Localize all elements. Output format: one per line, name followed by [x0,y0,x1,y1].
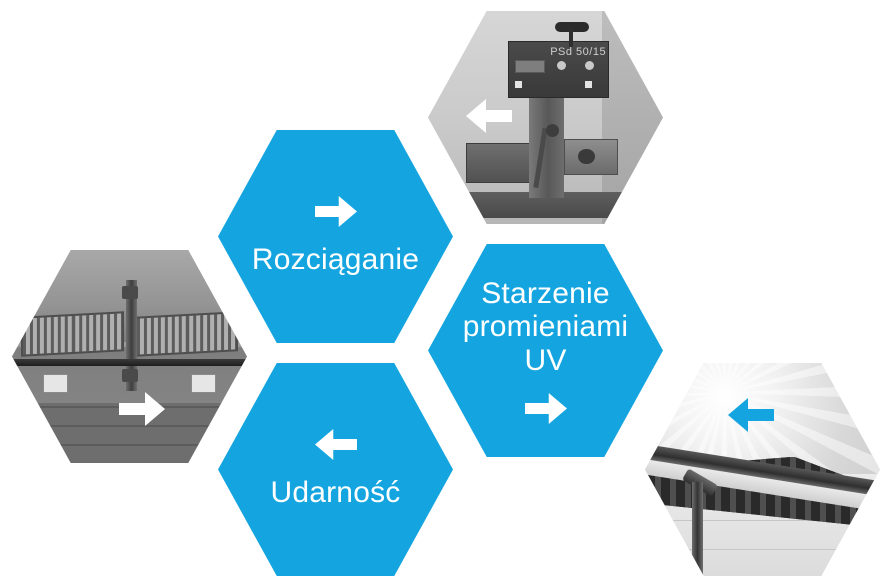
hexagon-label-udarnosc: Udarność [244,476,427,510]
arrow-slot-top [315,196,357,227]
photo-artwork-tensile-bench [12,250,247,463]
hexagon-label-starzenie-uv: Starzenie promieniami UV [454,277,637,378]
hexagon-label-rozciaganie: Rozciąganie [244,243,427,277]
photo-hexagon-tensile-bench[interactable]: Stanowisko do próby rozciągania [12,250,247,463]
photo-artwork-roof-gutter [645,363,880,576]
photo-caption-tensile-bench: Stanowisko do próby rozciągania [12,250,13,251]
hexagon-node-rozciaganie[interactable]: Rozciąganie [218,130,453,343]
photo-hexagon-impact-tester[interactable]: PSd 50/15 Młot udarnościowy PSd 50/15 [428,11,663,224]
photo-caption-impact-tester: Młot udarnościowy PSd 50/15 [428,11,429,12]
arrow-slot-bottom [525,393,567,424]
arrow-left-icon [466,99,512,133]
diagram-canvas: Stanowisko do próby rozciągania PSd 50/1… [0,0,880,585]
arrow-left-icon [315,429,357,460]
machine-label: PSd 50/15 [550,46,606,58]
arrow-left-icon [728,398,774,432]
arrow-right-icon [315,196,357,227]
photo-artwork-impact-tester: PSd 50/15 [428,11,663,224]
arrow-right-icon [525,393,567,424]
hexagon-node-udarnosc[interactable]: Udarność [218,363,453,576]
photo-hexagon-roof-gutter[interactable]: Dach z rynną w promieniach słonecznych [645,363,880,576]
hexagon-node-starzenie-uv[interactable]: Starzenie promieniami UV [428,244,663,457]
arrow-right-icon [119,392,165,426]
arrow-slot-top [315,429,357,460]
